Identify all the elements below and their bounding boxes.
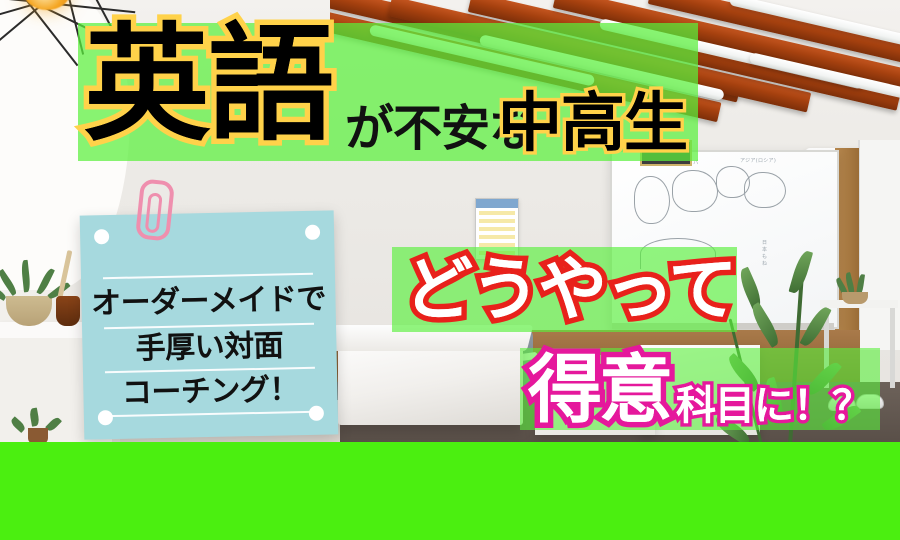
cta-bar[interactable]: 今なら 無料体験 無料体験 実施中(先着順) 学習相談 無料 学習相談 無料 詳… xyxy=(0,442,900,540)
reed-diffuser xyxy=(56,296,80,326)
side-table-leg xyxy=(890,308,895,388)
potted-plant xyxy=(2,258,62,302)
card-line-1: オーダーメイドで xyxy=(81,284,336,319)
headline-subject: 英語 xyxy=(84,22,332,148)
potted-plant xyxy=(16,408,60,446)
paperclip-icon xyxy=(135,178,175,241)
card-dot xyxy=(305,225,320,240)
card-dot xyxy=(94,229,109,244)
card-line-2: 手厚い対面 xyxy=(82,330,337,365)
headline-audience: 中高生 xyxy=(498,92,687,156)
question-tail: 科目に！？ xyxy=(676,386,871,426)
question-main: 得意 xyxy=(528,353,670,427)
card-line-3: コーチング！ xyxy=(83,374,338,409)
question-line1: どうやって xyxy=(404,256,736,325)
ad-banner: ヨーロッパ アジア(ロシア) 日本もね xyxy=(0,0,900,540)
card-dot xyxy=(309,406,324,421)
feature-card: オーダーメイドで 手厚い対面 コーチング！ xyxy=(80,210,339,439)
card-dot xyxy=(98,410,113,425)
light-bulb xyxy=(24,0,70,10)
